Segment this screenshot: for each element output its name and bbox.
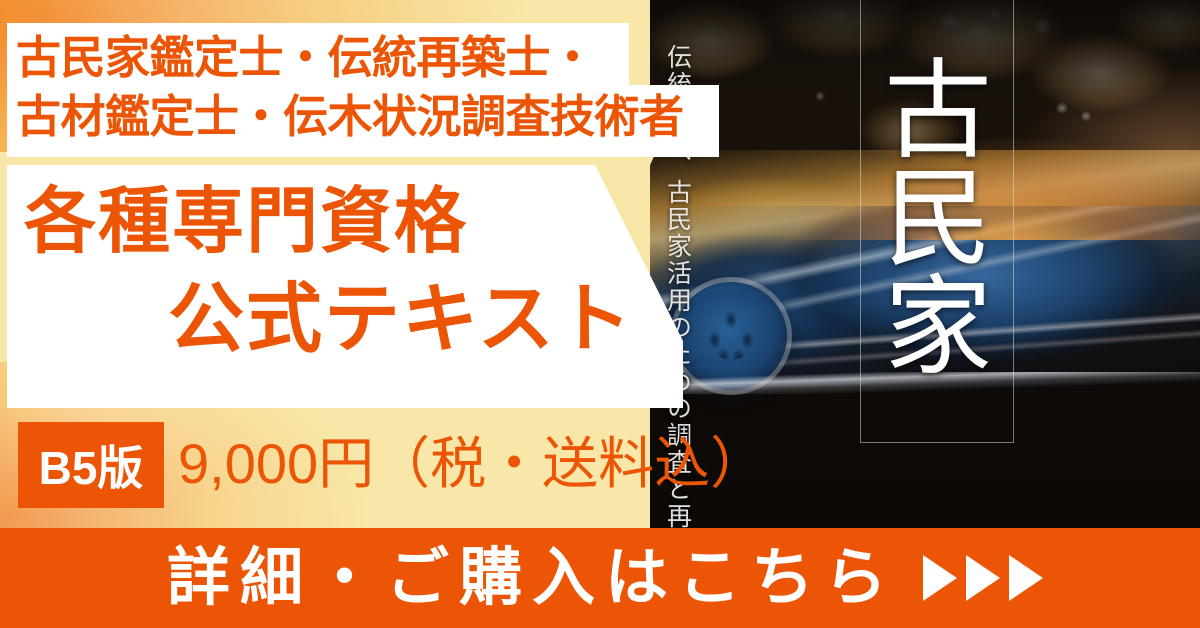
book-cover-title: 古民家 [876, 10, 996, 420]
format-badge: B5版 [18, 422, 164, 508]
cta-arrows [923, 555, 1043, 601]
play-arrow-icon [966, 555, 1000, 601]
play-arrow-icon [923, 555, 957, 601]
play-arrow-icon [1009, 555, 1043, 601]
title-line-2: 公式テキスト [168, 282, 634, 358]
headline-text: 古民家鑑定士・伝統再築士・ 古材鑑定士・伝木状況調査技術者 [16, 29, 716, 146]
title-line-1: 各種専門資格 [24, 186, 468, 258]
price-text: 9,000円（税・送料込） [178, 428, 766, 501]
promo-banner: 古民家 伝統構法、古民家活用のための調査と再生の 古民家鑑定士・伝統再築士・ 古… [0, 0, 1200, 628]
cta-bar[interactable]: 詳細・ご購入はこちら [0, 528, 1200, 628]
cta-label: 詳細・ご購入はこちら [157, 547, 897, 610]
